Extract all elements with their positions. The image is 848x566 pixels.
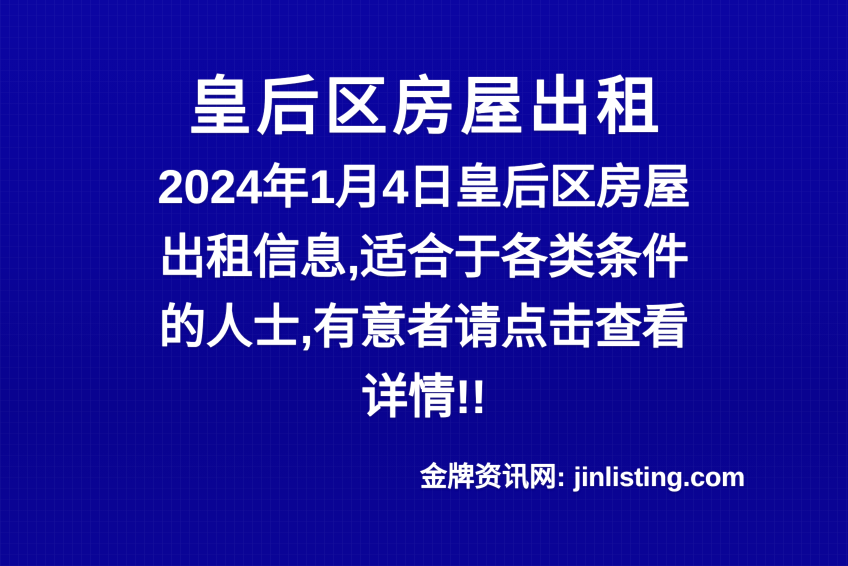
announcement-line-2: 出租信息,适合于各类条件: [56, 222, 792, 292]
announcement-line-3: 的人士,有意者请点击查看: [56, 292, 792, 362]
announcement-body: 2024年1月4日皇后区房屋 出租信息,适合于各类条件 的人士,有意者请点击查看…: [56, 152, 792, 432]
rental-notice-poster: 皇后区房屋出租 2024年1月4日皇后区房屋 出租信息,适合于各类条件 的人士,…: [0, 0, 848, 566]
page-title: 皇后区房屋出租: [0, 66, 848, 148]
source-credit-url[interactable]: jinlisting.com: [574, 462, 745, 492]
announcement-line-1: 2024年1月4日皇后区房屋: [56, 152, 792, 222]
source-credit-label: 金牌资讯网:: [420, 462, 566, 492]
source-credit: 金牌资讯网: jinlisting.com: [420, 459, 745, 495]
announcement-line-4: 详情!!: [56, 362, 792, 432]
